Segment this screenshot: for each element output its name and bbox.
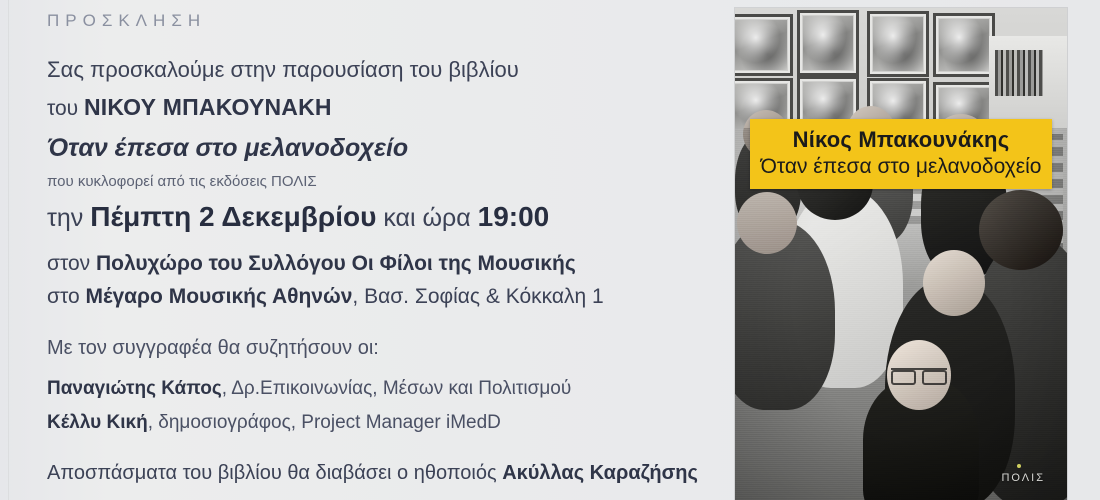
date-prefix: την: [47, 204, 90, 232]
speaker-title: , δημοσιογράφος, Project Manager iMedD: [148, 412, 501, 433]
framed-portrait-icon: [797, 10, 859, 76]
framed-portrait-icon: [735, 14, 793, 76]
reader-prefix: Αποσπάσματα του βιβλίου θα διαβάσει ο ηθ…: [47, 462, 502, 484]
venue2-prefix: στο: [47, 285, 85, 308]
venue-line-1: στον Πολυχώρο του Συλλόγου Οι Φίλοι της …: [47, 253, 576, 274]
invitation-intro-text: Σας προσκαλούμε στην παρουσίαση του βιβλ…: [47, 57, 519, 82]
publisher-logo-dot-icon: [1017, 464, 1021, 468]
invitation-poster: ΠΡΟΣΚΛΗΣΗ Σας προσκαλούμε στην παρουσίασ…: [0, 0, 1100, 500]
gallery-wall: [735, 8, 1067, 128]
speakers-heading: Με τον συγγραφέα θα συζητήσουν οι:: [47, 338, 379, 358]
venue-line-2: στο Μέγαρο Μουσικής Αθηνών, Βασ. Σοφίας …: [47, 286, 604, 307]
book-author-line: του ΝΙΚΟΥ ΜΠΑΚΟΥΝΑΚΗ: [47, 96, 332, 119]
person-head: [737, 192, 797, 254]
event-date: Πέμπτη 2 Δεκεμβρίου: [90, 201, 376, 232]
invitation-kicker: ΠΡΟΣΚΛΗΣΗ: [47, 11, 206, 31]
venue1-prefix: στον: [47, 252, 96, 275]
author-prefix: του: [47, 97, 84, 120]
venue2-name: Μέγαρο Μουσικής Αθηνών: [85, 285, 352, 308]
book-title-line: Όταν έπεσα στο μελανοδοχείο: [47, 136, 408, 161]
glasses-icon: [891, 368, 947, 381]
bookshelf-icon: [989, 36, 1067, 128]
person-head: [979, 190, 1063, 270]
venue2-address: , Βασ. Σοφίας & Κόκκαλη 1: [352, 285, 603, 308]
banner-book-title: Όταν έπεσα στο μελανοδοχείο: [750, 154, 1052, 179]
author-name: ΝΙΚΟΥ ΜΠΑΚΟΥΝΑΚΗ: [84, 94, 332, 120]
publisher-line: που κυκλοφορεί από τις εκδόσεις ΠΟΛΙΣ: [47, 174, 317, 189]
time-prefix: και ώρα: [376, 204, 477, 232]
invitation-intro-line: Σας προσκαλούμε στην παρουσίαση του βιβλ…: [47, 59, 519, 81]
speaker-title: , Δρ.Επικοινωνίας, Μέσων και Πολιτισμού: [222, 378, 572, 399]
framed-portrait-icon: [933, 13, 995, 77]
framed-portrait-icon: [867, 11, 929, 77]
speaker-name: Κέλλυ Κική: [47, 412, 148, 433]
publisher-logo-text: ΠΟΛΙΣ: [1001, 472, 1045, 484]
event-time: 19:00: [478, 201, 550, 232]
reader-name: Ακύλλας Καραζήσης: [502, 462, 698, 484]
banner-author-name: Νίκος Μπακουνάκης: [750, 127, 1052, 152]
venue1-name: Πολυχώρο του Συλλόγου Οι Φίλοι της Μουσι…: [96, 252, 576, 275]
invitation-text-column: ΠΡΟΣΚΛΗΣΗ Σας προσκαλούμε στην παρουσίασ…: [47, 0, 737, 500]
event-datetime-line: την Πέμπτη 2 Δεκεμβρίου και ώρα 19:00: [47, 203, 549, 231]
speaker-name: Παναγιώτης Κάπος: [47, 378, 222, 399]
left-edge-rule: [8, 0, 9, 500]
person-head: [923, 250, 985, 316]
speaker-item: Παναγιώτης Κάπος, Δρ.Επικοινωνίας, Μέσων…: [47, 379, 571, 398]
book-cover-photo: Νίκος Μπακουνάκης Όταν έπεσα στο μελανοδ…: [735, 8, 1067, 500]
book-cover-banner: Νίκος Μπακουνάκης Όταν έπεσα στο μελανοδ…: [750, 119, 1052, 189]
reader-line: Αποσπάσματα του βιβλίου θα διαβάσει ο ηθ…: [47, 463, 698, 483]
speaker-item: Κέλλυ Κική, δημοσιογράφος, Project Manag…: [47, 413, 501, 432]
